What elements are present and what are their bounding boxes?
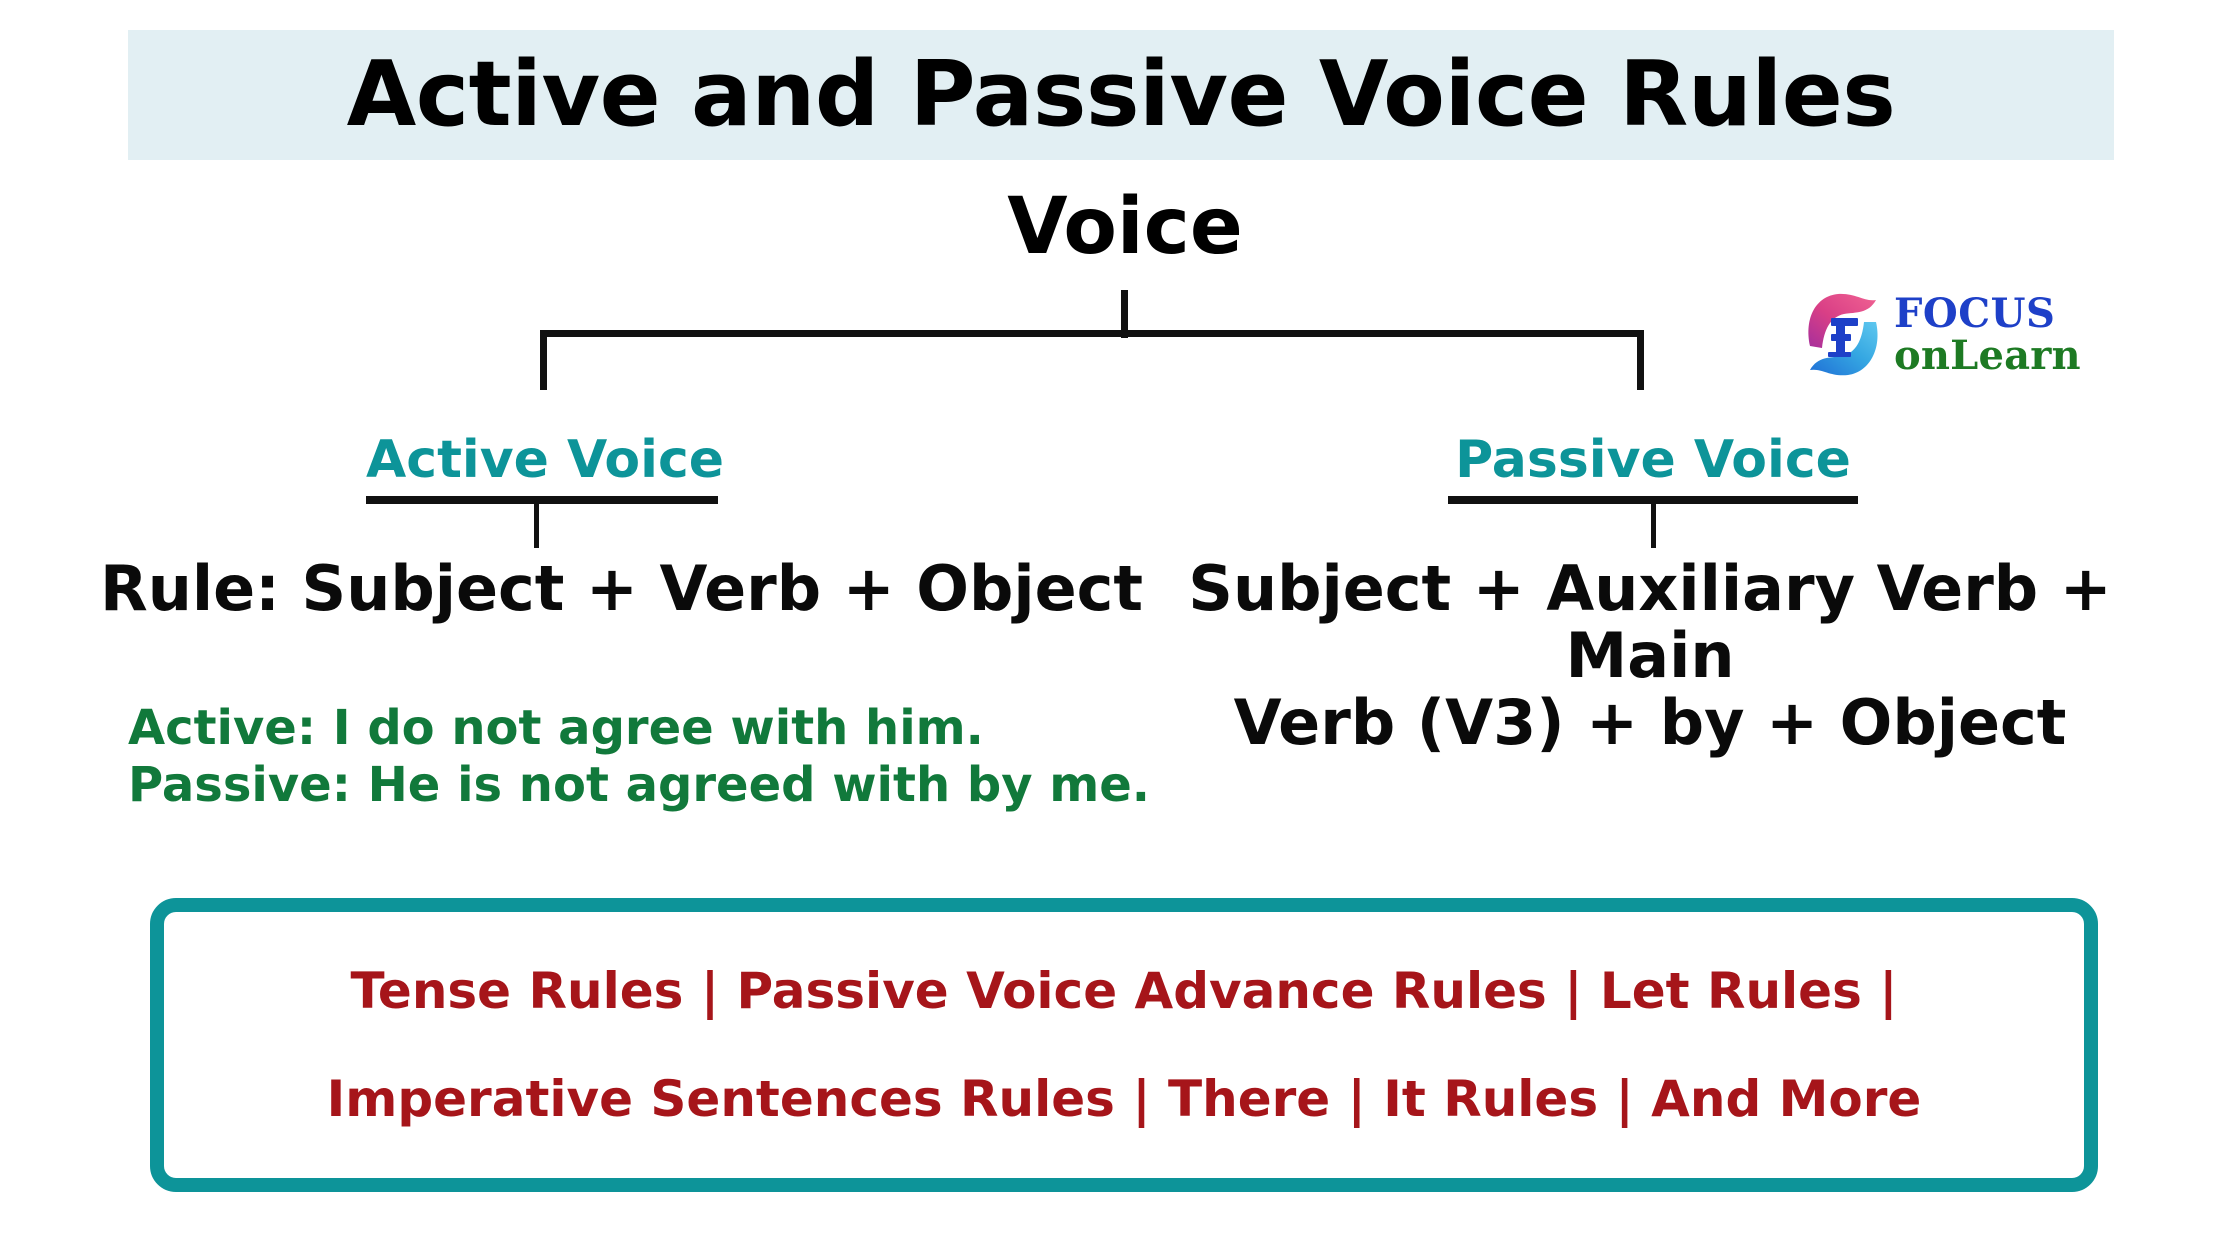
branch-heading-active-voice: Active Voice [366,434,716,486]
brand-wordmark-onlearn: onLearn [1894,336,2108,376]
focus-onlearn-f-logo-icon [1798,288,1888,380]
example-sentence-active: Active: I do not agree with him. [128,700,1228,757]
formula-passive-voice: Subject + Auxiliary Verb + Main Verb (V3… [1120,556,2180,757]
formula-passive-voice-line-2: Verb (V3) + by + Object [1120,690,2180,757]
connector-active-stem-vertical [534,500,539,548]
title-banner: Active and Passive Voice Rules [128,30,2114,160]
brand-wordmark: FOCUS onLearn [1894,290,2108,380]
formula-active-voice: Rule: Subject + Verb + Object [100,556,1070,623]
connector-left-branch-vertical [540,330,547,390]
related-rules-box: Tense Rules | Passive Voice Advance Rule… [150,898,2098,1192]
diagram-root-node: Voice [0,188,2240,266]
connector-crossbar-horizontal [540,330,1644,337]
example-sentence-passive: Passive: He is not agreed with by me. [128,757,1228,814]
related-rules-line-1[interactable]: Tense Rules | Passive Voice Advance Rule… [350,966,1897,1016]
brand-logo[interactable]: FOCUS onLearn [1798,288,2108,380]
brand-wordmark-focus: FOCUS [1894,294,2108,334]
branch-underline-active-voice [366,496,718,504]
branch-heading-passive-voice: Passive Voice [1448,434,1858,486]
root-node-label: Voice [1007,188,1243,266]
connector-right-branch-vertical [1637,330,1644,390]
page-title: Active and Passive Voice Rules [347,50,1896,140]
related-rules-line-2[interactable]: Imperative Sentences Rules | There | It … [327,1074,1922,1124]
formula-passive-voice-line-1: Subject + Auxiliary Verb + Main [1120,556,2180,690]
example-sentences: Active: I do not agree with him. Passive… [128,700,1228,813]
connector-passive-stem-vertical [1651,500,1656,548]
